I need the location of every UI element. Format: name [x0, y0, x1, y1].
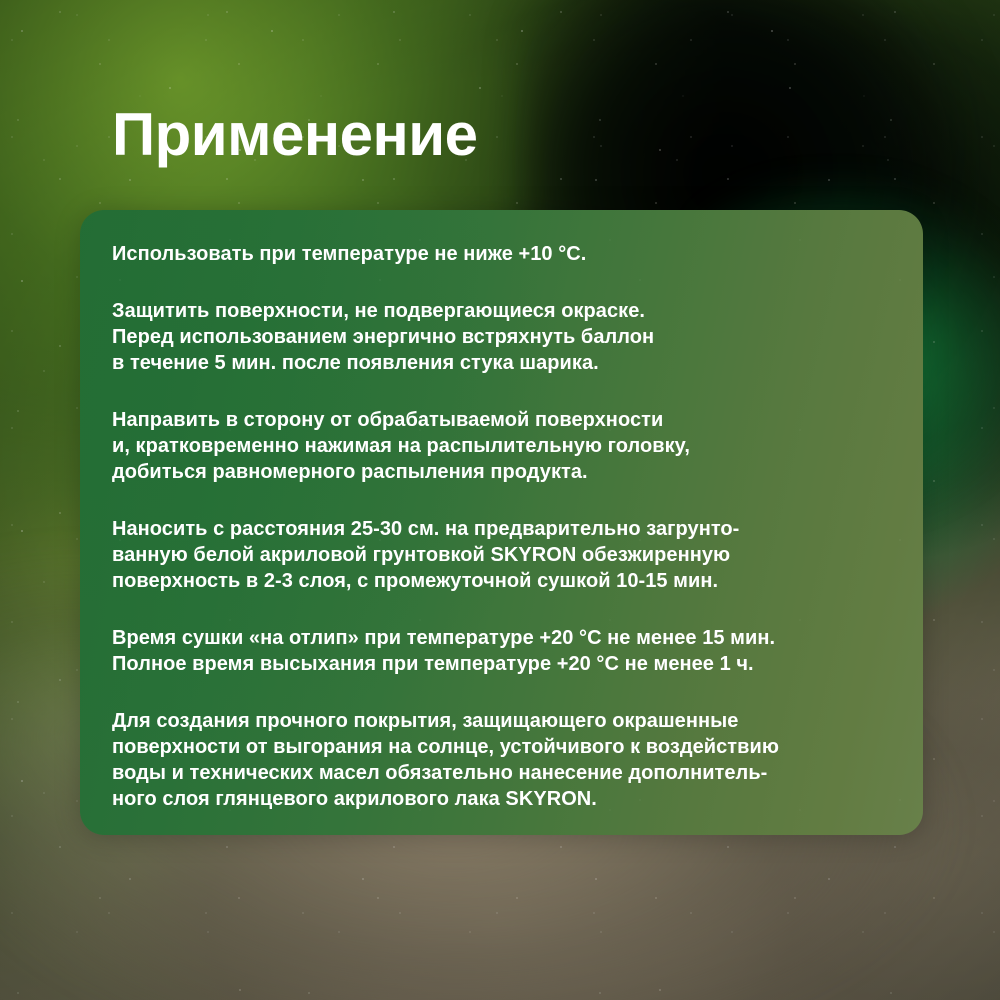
poster-stage: Применение Использовать при температуре … [0, 0, 1000, 1000]
instructions-card: Использовать при температуре не ниже +10… [80, 210, 923, 835]
instruction-paragraph-application: Наносить с расстояния 25-30 см. на предв… [112, 516, 883, 594]
instruction-paragraph-drying-time: Время сушки «на отлип» при температуре +… [112, 625, 883, 677]
instruction-paragraph-protective-lacquer: Для создания прочного покрытия, защищающ… [112, 708, 883, 812]
instruction-paragraph-preparation: Защитить поверхности, не подвергающиеся … [112, 298, 883, 376]
instructions-list: Использовать при температуре не ниже +10… [80, 210, 923, 812]
instruction-paragraph-temperature: Использовать при температуре не ниже +10… [112, 241, 883, 267]
page-title: Применение [112, 103, 478, 167]
instruction-paragraph-spray-test: Направить в сторону от обрабатываемой по… [112, 407, 883, 485]
